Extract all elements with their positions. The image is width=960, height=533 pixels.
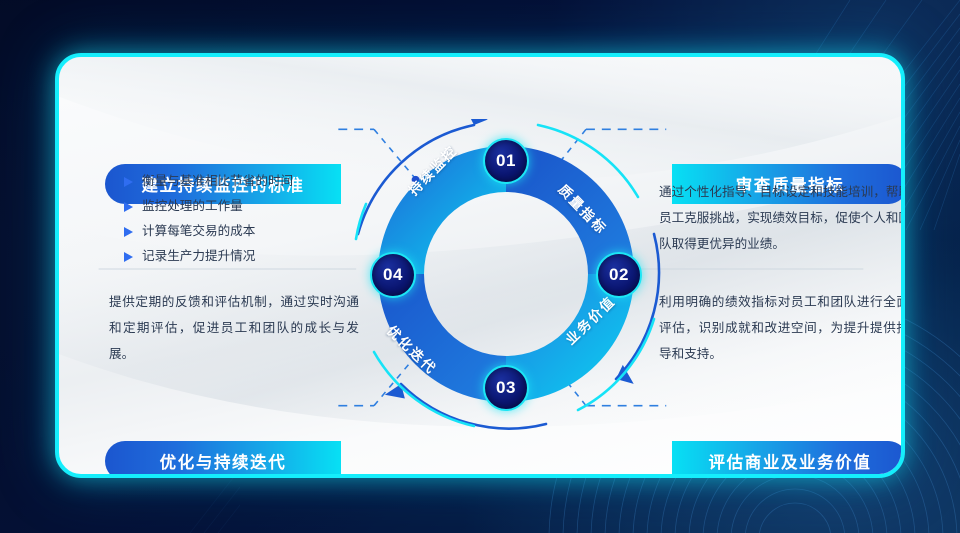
list-item-label: 计算每笔交易的成本 [142,219,255,244]
list-item: 计算每笔交易的成本 [124,219,384,244]
list-item-label: 监控处理的工作量 [142,194,243,219]
step-badge-01[interactable]: 01 [483,138,529,184]
quadrant-text-top-left: 衡量与基准相比节省的时间 监控处理的工作量 计算每笔交易的成本 记录生产力提升情… [124,169,384,269]
list-item: 监控处理的工作量 [124,194,384,219]
pill-assess-business-value[interactable]: 评估商业及业务价值 [672,441,905,478]
cycle-diagram: 持续监控 质量指标 业务价值 优化迭代 01 02 03 04 [351,119,661,439]
list-item-label: 记录生产力提升情况 [142,244,255,269]
paragraph-assess-business-value: 利用明确的绩效指标对员工和团队进行全面评估，识别成就和改进空间，为提升提供指导和… [659,289,905,367]
infographic-card: 建立持续监控的标准 审查质量指标 优化与持续迭代 评估商业及业务价值 衡量与基准… [55,53,905,478]
list-item: 记录生产力提升情况 [124,244,384,269]
quadrant-text-bottom-left: 提供定期的反馈和评估机制，通过实时沟通和定期评估，促进员工和团队的成长与发展。 [109,289,359,367]
triangle-right-icon [124,202,133,212]
triangle-right-icon [124,227,133,237]
list-item: 衡量与基准相比节省的时间 [124,169,384,194]
list-item-label: 衡量与基准相比节省的时间 [142,169,293,194]
triangle-right-icon [124,252,133,262]
step-badge-02[interactable]: 02 [596,252,642,298]
quadrant-text-bottom-right: 利用明确的绩效指标对员工和团队进行全面评估，识别成就和改进空间，为提升提供指导和… [659,289,905,367]
step-badge-04[interactable]: 04 [370,252,416,298]
quadrant-text-top-right: 通过个性化指导、目标设定和技能培训，帮助员工克服挑战，实现绩效目标，促使个人和团… [659,179,905,257]
pill-optimize-and-iterate[interactable]: 优化与持续迭代 [105,441,341,478]
step-badge-03[interactable]: 03 [483,365,529,411]
paragraph-optimize-and-iterate: 提供定期的反馈和评估机制，通过实时沟通和定期评估，促进员工和团队的成长与发展。 [109,289,359,367]
triangle-right-icon [124,177,133,187]
paragraph-review-quality-metrics: 通过个性化指导、目标设定和技能培训，帮助员工克服挑战，实现绩效目标，促使个人和团… [659,179,905,257]
